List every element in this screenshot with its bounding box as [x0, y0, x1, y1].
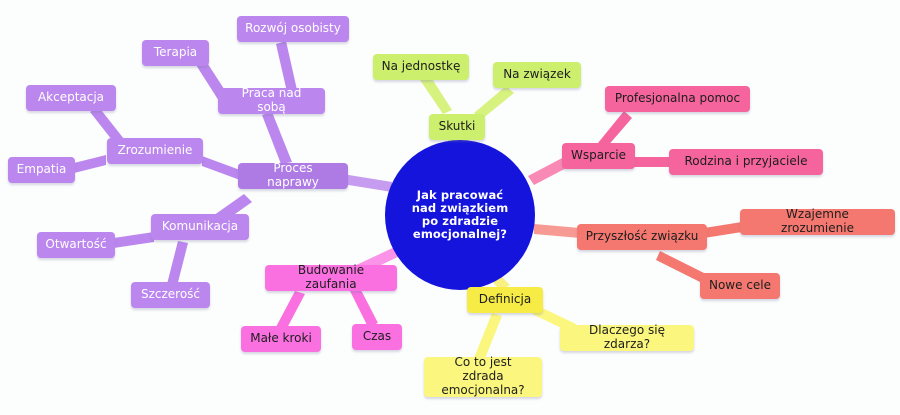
node-label-komunikacja: Komunikacja: [162, 220, 238, 234]
node-nowe-cele[interactable]: Nowe cele: [700, 273, 780, 299]
central-topic-node[interactable]: Jak pracować nad związkiem po zdradzie e…: [385, 140, 535, 290]
node-label-czas: Czas: [363, 330, 391, 344]
node-label-dlaczego-sie-zdarza: Dlaczego się zdarza?: [568, 324, 686, 352]
node-label-terapia: Terapia: [154, 46, 197, 60]
node-rodzina-i-przyjaciele[interactable]: Rodzina i przyjaciele: [669, 149, 823, 175]
node-profesjonalna-pomoc[interactable]: Profesjonalna pomoc: [605, 86, 750, 112]
node-label-definicja: Definicja: [479, 293, 531, 307]
branch-node-budowanie-zaufania[interactable]: Budowanie zaufania: [265, 265, 397, 291]
link-wsparcie-rodzina: [630, 157, 672, 167]
node-label-male-kroki: Małe kroki: [250, 332, 312, 346]
branch-node-definicja[interactable]: Definicja: [467, 287, 543, 313]
node-label-nowe-cele: Nowe cele: [709, 279, 771, 293]
central-topic-label: Jak pracować nad związkiem po zdradzie e…: [403, 189, 517, 242]
node-label-rozwoj-osobisty: Rozwój osobisty: [245, 22, 341, 36]
node-wzajemne-zrozumienie[interactable]: Wzajemne zrozumienie: [740, 209, 895, 235]
node-label-empatia: Empatia: [17, 163, 67, 177]
node-label-praca-nad-soba: Praca nad sobą: [226, 87, 317, 115]
link-skutki-na-jednostke: [420, 74, 452, 114]
node-label-profesjonalna-pomoc: Profesjonalna pomoc: [615, 92, 740, 106]
link-przyszlosc-wzajemne: [704, 222, 742, 238]
node-na-zwiazek[interactable]: Na związek: [493, 62, 581, 88]
node-label-co-to-jest-zdrada-emocjonalna: Co to jest zdrada emocjonalna?: [432, 356, 534, 397]
node-label-rodzina-i-przyjaciele: Rodzina i przyjaciele: [685, 155, 808, 169]
node-terapia[interactable]: Terapia: [142, 40, 209, 66]
node-label-szczerosc: Szczerość: [141, 288, 200, 302]
node-rozwoj-osobisty[interactable]: Rozwój osobisty: [237, 16, 349, 42]
node-label-budowanie-zaufania: Budowanie zaufania: [273, 264, 389, 292]
node-akceptacja[interactable]: Akceptacja: [26, 85, 116, 111]
node-co-to-jest-zdrada-emocjonalna[interactable]: Co to jest zdrada emocjonalna?: [424, 357, 542, 397]
node-dlaczego-sie-zdarza[interactable]: Dlaczego się zdarza?: [560, 325, 694, 351]
node-szczerosc[interactable]: Szczerość: [131, 282, 210, 308]
link-budowanie-czas: [350, 288, 378, 327]
node-praca-nad-soba[interactable]: Praca nad sobą: [218, 88, 325, 114]
node-empatia[interactable]: Empatia: [8, 157, 75, 183]
link-proces-zrozumienie: [202, 156, 240, 180]
node-na-jednostke[interactable]: Na jednostkę: [373, 54, 469, 80]
link-budowanie-male-kroki: [276, 291, 305, 330]
node-label-proces-naprawy: Proces naprawy: [246, 162, 340, 190]
node-label-na-jednostke: Na jednostkę: [382, 60, 461, 74]
node-label-wsparcie: Wsparcie: [571, 149, 626, 163]
node-label-wzajemne-zrozumienie: Wzajemne zrozumienie: [748, 208, 887, 236]
branch-node-proces-naprawy[interactable]: Proces naprawy: [238, 163, 348, 189]
node-komunikacja[interactable]: Komunikacja: [151, 214, 249, 240]
link-praca-rozwoj: [276, 41, 297, 92]
node-label-przyszlosc-zwiazku: Przyszłość związku: [586, 230, 699, 244]
node-label-na-zwiazek: Na związek: [503, 68, 571, 82]
branch-node-przyszlosc-zwiazku[interactable]: Przyszłość związku: [577, 224, 707, 250]
node-label-skutki: Skutki: [439, 120, 476, 134]
node-czas[interactable]: Czas: [352, 324, 402, 350]
link-definicja-co-to: [474, 313, 502, 361]
branch-node-skutki[interactable]: Skutki: [429, 114, 485, 140]
link-proces-praca: [262, 112, 292, 164]
node-male-kroki[interactable]: Małe kroki: [241, 326, 321, 352]
node-otwartosc[interactable]: Otwartość: [37, 232, 115, 258]
link-central-przyszlosc: [534, 224, 580, 238]
mind-map-canvas: Jak pracować nad związkiem po zdradzie e…: [0, 0, 900, 415]
node-label-zrozumienie: Zrozumienie: [118, 144, 193, 158]
branch-node-wsparcie[interactable]: Wsparcie: [562, 143, 635, 169]
node-label-akceptacja: Akceptacja: [38, 91, 104, 105]
node-label-otwartosc: Otwartość: [45, 238, 106, 252]
node-zrozumienie[interactable]: Zrozumienie: [107, 138, 203, 164]
